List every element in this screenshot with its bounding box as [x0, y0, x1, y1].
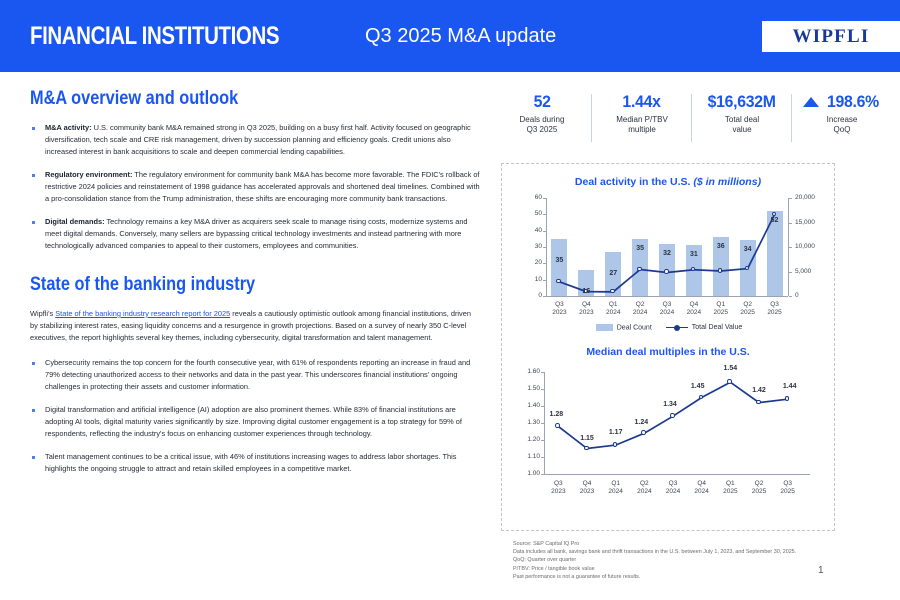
- line-data-point: [727, 379, 732, 384]
- banking-industry-bullet-list: Cybersecurity remains the top concern fo…: [30, 357, 480, 475]
- kpi-label-line: Median P/TBV: [596, 115, 688, 126]
- page-number: 1: [818, 565, 824, 576]
- kpi-label-line: value: [696, 125, 788, 136]
- chart-deal-activity: 605040302010005,00010,00015,00020,000351…: [502, 188, 836, 336]
- list-item-lead: Regulatory environment:: [45, 170, 132, 179]
- list-item-lead: Digital demands:: [45, 217, 105, 226]
- kpi-label: Median P/TBVmultiple: [596, 115, 688, 137]
- banking-report-link[interactable]: State of the banking industry research r…: [55, 309, 230, 318]
- x-cat-quarter: Q3: [758, 301, 792, 309]
- kpi-stat: 198.6%IncreaseQoQ: [792, 92, 892, 136]
- kpi-label: IncreaseQoQ: [796, 115, 888, 137]
- page-subtitle: Q3 2025 M&A update: [365, 25, 556, 48]
- charts-panel: Deal activity in the U.S. ($ in millions…: [501, 163, 835, 531]
- x-axis-category-label: Q32025: [758, 301, 792, 317]
- list-item: M&A activity: U.S. community bank M&A re…: [30, 122, 480, 158]
- bar-value-label: 27: [602, 270, 624, 277]
- data-point-label: 1.45: [686, 383, 710, 390]
- bar-value-label: 36: [710, 243, 732, 250]
- x-axis-category-label: Q32025: [771, 480, 805, 496]
- data-point-label: 1.44: [778, 383, 802, 390]
- triangle-up-icon: [803, 97, 819, 107]
- kpi-stat-row: 52Deals duringQ3 20251.44xMedian P/TBVmu…: [492, 92, 892, 148]
- line-data-point: [772, 212, 777, 217]
- data-point-label: 1.15: [575, 435, 599, 442]
- wipfli-logo: WIPFLI: [762, 21, 900, 52]
- data-point-label: 1.34: [658, 401, 682, 408]
- data-point-label: 1.17: [604, 429, 628, 436]
- line-data-point: [664, 269, 669, 274]
- kpi-value: 1.44x: [623, 92, 661, 112]
- kpi-label-line: Q3 2025: [496, 125, 588, 136]
- chart-title-median-multiples: Median deal multiples in the U.S.: [502, 346, 834, 358]
- list-item-text: Talent management continues to be a crit…: [45, 452, 457, 473]
- left-content-column: M&A overview and outlook M&A activity: U…: [30, 88, 480, 486]
- line-data-point: [718, 268, 723, 273]
- line-data-point: [584, 446, 589, 451]
- bar-value-label: 31: [683, 251, 705, 258]
- chart-title-deal-activity: Deal activity in the U.S. ($ in millions…: [502, 176, 834, 188]
- bar-value-label: 52: [764, 217, 786, 224]
- footnote-line: P/TBV: Price / tangible book value: [513, 565, 833, 573]
- line-data-point: [699, 395, 704, 400]
- footnotes: Source: S&P Capital IQ ProData includes …: [513, 540, 833, 581]
- x-cat-year: 2025: [758, 309, 792, 317]
- list-item-text: U.S. community bank M&A remained strong …: [45, 123, 471, 156]
- chart-legend: Deal CountTotal Deal Value: [502, 324, 836, 331]
- bar-value-label: 16: [575, 288, 597, 295]
- line-data-point: [756, 400, 761, 405]
- list-item: Talent management continues to be a crit…: [30, 451, 480, 475]
- bar-value-label: 35: [548, 257, 570, 264]
- data-point-label: 1.24: [629, 419, 653, 426]
- kpi-label-line: Deals during: [496, 115, 588, 126]
- bar-value-label: 35: [629, 245, 651, 252]
- kpi-value: 198.6%: [827, 92, 879, 112]
- kpi-stat: $16,632MTotal dealvalue: [692, 92, 792, 136]
- line-data-point: [670, 413, 675, 418]
- footnote-line: Source: S&P Capital IQ Pro: [513, 540, 833, 548]
- kpi-stat: 1.44xMedian P/TBVmultiple: [592, 92, 692, 136]
- page-title: FINANCIAL INSTITUTIONS: [30, 22, 279, 51]
- footnote-line: QoQ: Quarter over quarter: [513, 556, 833, 564]
- legend-label: Total Deal Value: [692, 324, 742, 331]
- line-data-point: [610, 289, 615, 294]
- list-item: Digital transformation and artificial in…: [30, 404, 480, 440]
- line-data-point: [785, 396, 790, 401]
- wipfli-logo-text: WIPFLI: [793, 26, 870, 48]
- kpi-stat: 52Deals duringQ3 2025: [492, 92, 592, 136]
- legend-line-icon: [666, 327, 688, 328]
- line-data-point: [637, 267, 642, 272]
- list-item-text: Technology remains a key M&A driver as a…: [45, 217, 468, 250]
- chart-title-deal-activity-main: Deal activity in the U.S.: [575, 176, 691, 188]
- legend-label: Deal Count: [617, 324, 652, 331]
- list-item-lead: M&A activity:: [45, 123, 92, 132]
- kpi-label-line: multiple: [596, 125, 688, 136]
- section-heading-ma-overview: M&A overview and outlook: [30, 88, 417, 110]
- kpi-value: 52: [533, 92, 550, 112]
- footnote-line: Data includes all bank, savings bank and…: [513, 548, 833, 556]
- kpi-label-line: Increase: [796, 115, 888, 126]
- kpi-label-line: QoQ: [796, 125, 888, 136]
- data-point-label: 1.28: [544, 411, 568, 418]
- list-item: Cybersecurity remains the top concern fo…: [30, 357, 480, 393]
- legend-item-deal-count: Deal Count: [596, 324, 652, 331]
- kpi-label-line: Total deal: [696, 115, 788, 126]
- slide-page: FINANCIAL INSTITUTIONS Q3 2025 M&A updat…: [0, 0, 900, 600]
- list-item: Digital demands: Technology remains a ke…: [30, 216, 480, 252]
- kpi-label: Deals duringQ3 2025: [496, 115, 588, 137]
- x-cat-year: 2025: [771, 488, 805, 496]
- page-header: FINANCIAL INSTITUTIONS Q3 2025 M&A updat…: [0, 0, 900, 72]
- section-heading-banking-industry: State of the banking industry: [30, 274, 417, 296]
- footnote-line: Past performance is not a guarantee of f…: [513, 573, 833, 581]
- legend-swatch-icon: [596, 324, 613, 331]
- data-point-label: 1.42: [747, 387, 771, 394]
- banking-industry-intro-paragraph: Wipfli's State of the banking industry r…: [30, 308, 480, 344]
- intro-text-pre: Wipfli's: [30, 309, 55, 318]
- bar-value-label: 34: [737, 246, 759, 253]
- x-cat-quarter: Q3: [771, 480, 805, 488]
- list-item: Regulatory environment: The regulatory e…: [30, 169, 480, 205]
- chart-median-deal-multiples: 1.001.101.201.301.401.501.601.281.151.17…: [502, 358, 836, 523]
- list-item-text: Cybersecurity remains the top concern fo…: [45, 358, 470, 391]
- line-data-point: [555, 423, 560, 428]
- kpi-value: $16,632M: [708, 92, 776, 112]
- kpi-label: Total dealvalue: [696, 115, 788, 137]
- legend-item-total-deal-value: Total Deal Value: [666, 324, 742, 331]
- list-item-text: Digital transformation and artificial in…: [45, 405, 462, 438]
- ma-overview-bullet-list: M&A activity: U.S. community bank M&A re…: [30, 122, 480, 252]
- data-point-label: 1.54: [718, 365, 742, 372]
- chart-title-deal-activity-units: ($ in millions): [693, 176, 761, 188]
- line-data-point: [613, 442, 618, 447]
- line-data-point: [641, 430, 646, 435]
- bar-value-label: 32: [656, 250, 678, 257]
